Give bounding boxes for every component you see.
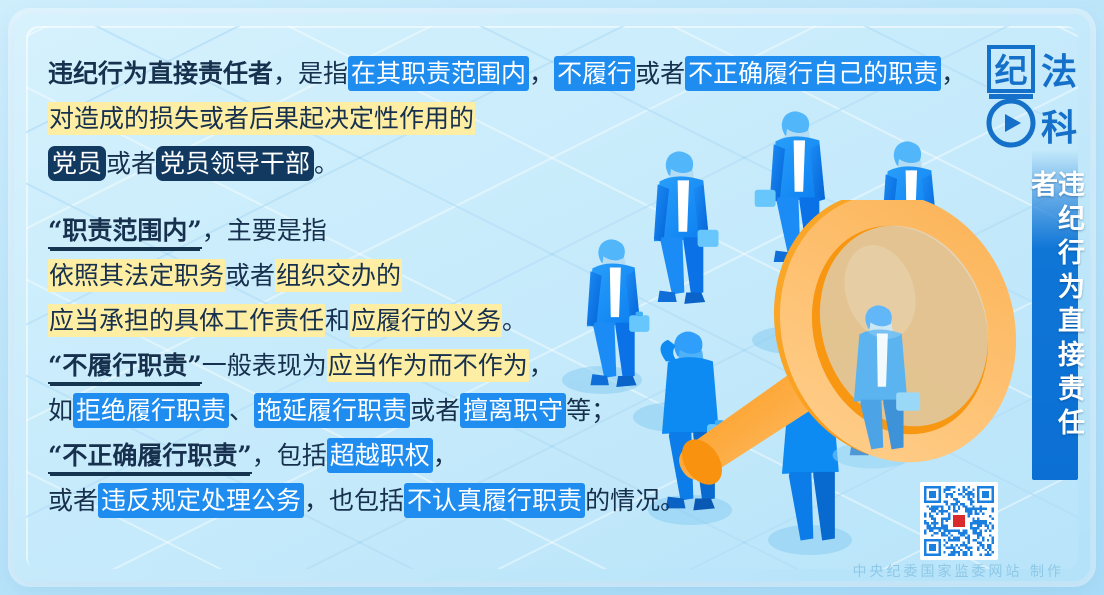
vertical-title-text: 违纪行为直接责任者: [1028, 170, 1082, 470]
text-segment-plain: 的情况。: [585, 486, 685, 515]
text-segment-hl-blue: 超越职权: [327, 438, 433, 473]
text-segment-hl-blue: 不正确履行自己的职责: [685, 56, 941, 91]
text-line: 依照其法定职务或者组织交办的: [48, 254, 688, 298]
body-text-block: 违纪行为直接责任者，是指在其职责范围内，不履行或者不正确履行自己的职责，对造成的…: [48, 52, 688, 524]
text-segment-plain: ，也包括: [304, 486, 404, 515]
text-segment-hl-navy: 党员领导干部: [156, 146, 314, 181]
vertical-title-strip: 违纪行为直接责任者: [1032, 150, 1078, 480]
text-segment-hl-blue: 擅离职守: [460, 393, 566, 428]
text-segment-hl-blue: 不认真履行职责: [404, 483, 585, 518]
text-segment-plain: 或者: [48, 486, 98, 515]
text-segment-hl-yellow: 依照其法定职务: [48, 259, 225, 292]
paragraph-spacer: [48, 187, 688, 209]
magnifying-glass-icon: [630, 200, 1050, 530]
paragraph-2: “职责范围内”，主要是指依照其法定职务或者组织交办的应当承担的具体工作责任和应履…: [48, 209, 688, 523]
text-segment-plain: 或者: [225, 261, 275, 290]
text-segment-plain: 和: [325, 306, 350, 335]
text-line: “不履行职责”一般表现为应当作为而不作为，: [48, 344, 688, 388]
text-line: “职责范围内”，主要是指: [48, 209, 688, 253]
text-segment-plain: ，: [433, 441, 458, 470]
text-line: 或者违反规定处理公务，也包括不认真履行职责的情况。: [48, 479, 688, 523]
text-segment-plain: 、: [229, 396, 254, 425]
text-segment-plain: 如: [48, 396, 73, 425]
text-segment-hl-yellow: 对造成的损失或者后果起决定性作用的: [48, 102, 475, 135]
text-segment-plain: 或者: [410, 396, 460, 425]
text-segment-hl-yellow: 应当承担的具体工作责任: [48, 304, 325, 337]
qr-center-seal: [952, 514, 966, 528]
text-segment-hl-blue: 违反规定处理公务: [98, 483, 304, 518]
text-segment-plain: 。: [502, 306, 527, 335]
text-segment-plain: ，: [529, 59, 554, 88]
text-segment-bold-dblunderline: “职责范围内”: [48, 216, 202, 249]
qr-code[interactable]: [920, 482, 998, 560]
text-segment-plain: 等；: [566, 396, 616, 425]
text-segment-plain: 或者: [106, 149, 156, 178]
text-segment-hl-yellow: 应当作为而不作为: [327, 349, 529, 382]
text-segment-hl-yellow: 应履行的义务: [350, 304, 502, 337]
text-segment-hl-blue: 不履行: [554, 56, 635, 91]
text-segment-plain: ，包括: [252, 441, 327, 470]
text-line: “不正确履行职责”，包括超越职权，: [48, 434, 688, 478]
svg-text:纪: 纪: [995, 51, 1028, 90]
text-line: 对造成的损失或者后果起决定性作用的: [48, 97, 688, 141]
text-segment-plain: 或者: [635, 59, 685, 88]
text-line: 如拒绝履行职责、拖延履行职责或者擅离职守等；: [48, 389, 688, 433]
text-segment-bold-dblunderline: “不正确履行职责”: [48, 441, 252, 474]
brand-logo-jifabaike: 纪 法 科: [986, 44, 1082, 164]
text-segment-hl-navy: 党员: [48, 146, 106, 181]
text-segment-plain: ，: [941, 59, 966, 88]
text-segment-plain: 一般表现为: [202, 351, 327, 380]
text-segment-plain: 。: [314, 149, 339, 178]
text-segment-plain: ，是指: [273, 59, 348, 88]
text-segment-hl-blue: 拖延履行职责: [254, 393, 410, 428]
paragraph-1: 违纪行为直接责任者，是指在其职责范围内，不履行或者不正确履行自己的职责，对造成的…: [48, 52, 688, 186]
text-segment-hl-yellow: 组织交办的: [275, 259, 402, 292]
text-segment-plain: ，: [529, 351, 554, 380]
text-segment-bold-dblunderline: “不履行职责”: [48, 351, 202, 384]
text-segment-plain: ，主要是指: [202, 216, 327, 245]
svg-text:法: 法: [1041, 52, 1077, 93]
infographic-poster: 纪 法 科 违纪行为直接责任者 违纪行为直接责任者，是指在其职责范围内，不履行或…: [0, 0, 1104, 595]
text-line: 应当承担的具体工作责任和应履行的义务。: [48, 299, 688, 343]
text-segment-hl-blue: 拒绝履行职责: [73, 393, 229, 428]
text-line: 党员或者党员领导干部。: [48, 142, 688, 186]
qr-code-image: [924, 486, 994, 556]
text-segment-hl-blue: 在其职责范围内: [348, 56, 529, 91]
svg-text:科: 科: [1041, 108, 1077, 149]
text-line: 违纪行为直接责任者，是指在其职责范围内，不履行或者不正确履行自己的职责，: [48, 52, 688, 96]
text-segment-bold: 违纪行为直接责任者: [48, 59, 273, 88]
footer-credit: 中央纪委国家监委网站 制作: [853, 561, 1064, 581]
